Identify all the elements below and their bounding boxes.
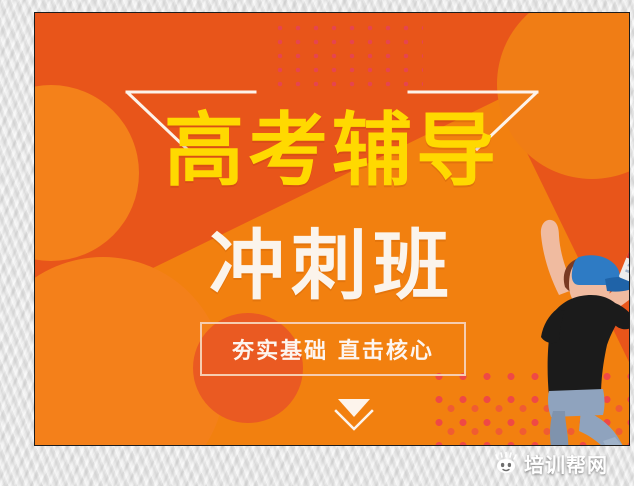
- watermark: 培训帮网: [494, 452, 608, 478]
- sunburst-face-icon: [494, 452, 518, 478]
- course-promo-banner: 高考辅导 冲刺班 夯实基础 直击核心: [34, 12, 630, 446]
- headline-secondary: 冲刺班: [35, 227, 629, 305]
- chevron-down-icon: [326, 393, 382, 435]
- watermark-text: 培训帮网: [524, 455, 608, 475]
- banner-artwork: 高考辅导 冲刺班 夯实基础 直击核心: [35, 13, 629, 445]
- subtitle-box: 夯实基础 直击核心: [200, 322, 466, 376]
- dot-grid-top-icon: [271, 21, 423, 87]
- poster-root: 高考辅导 冲刺班 夯实基础 直击核心: [0, 0, 634, 486]
- headline-primary: 高考辅导: [35, 111, 629, 191]
- subtitle-text: 夯实基础 直击核心: [232, 333, 434, 365]
